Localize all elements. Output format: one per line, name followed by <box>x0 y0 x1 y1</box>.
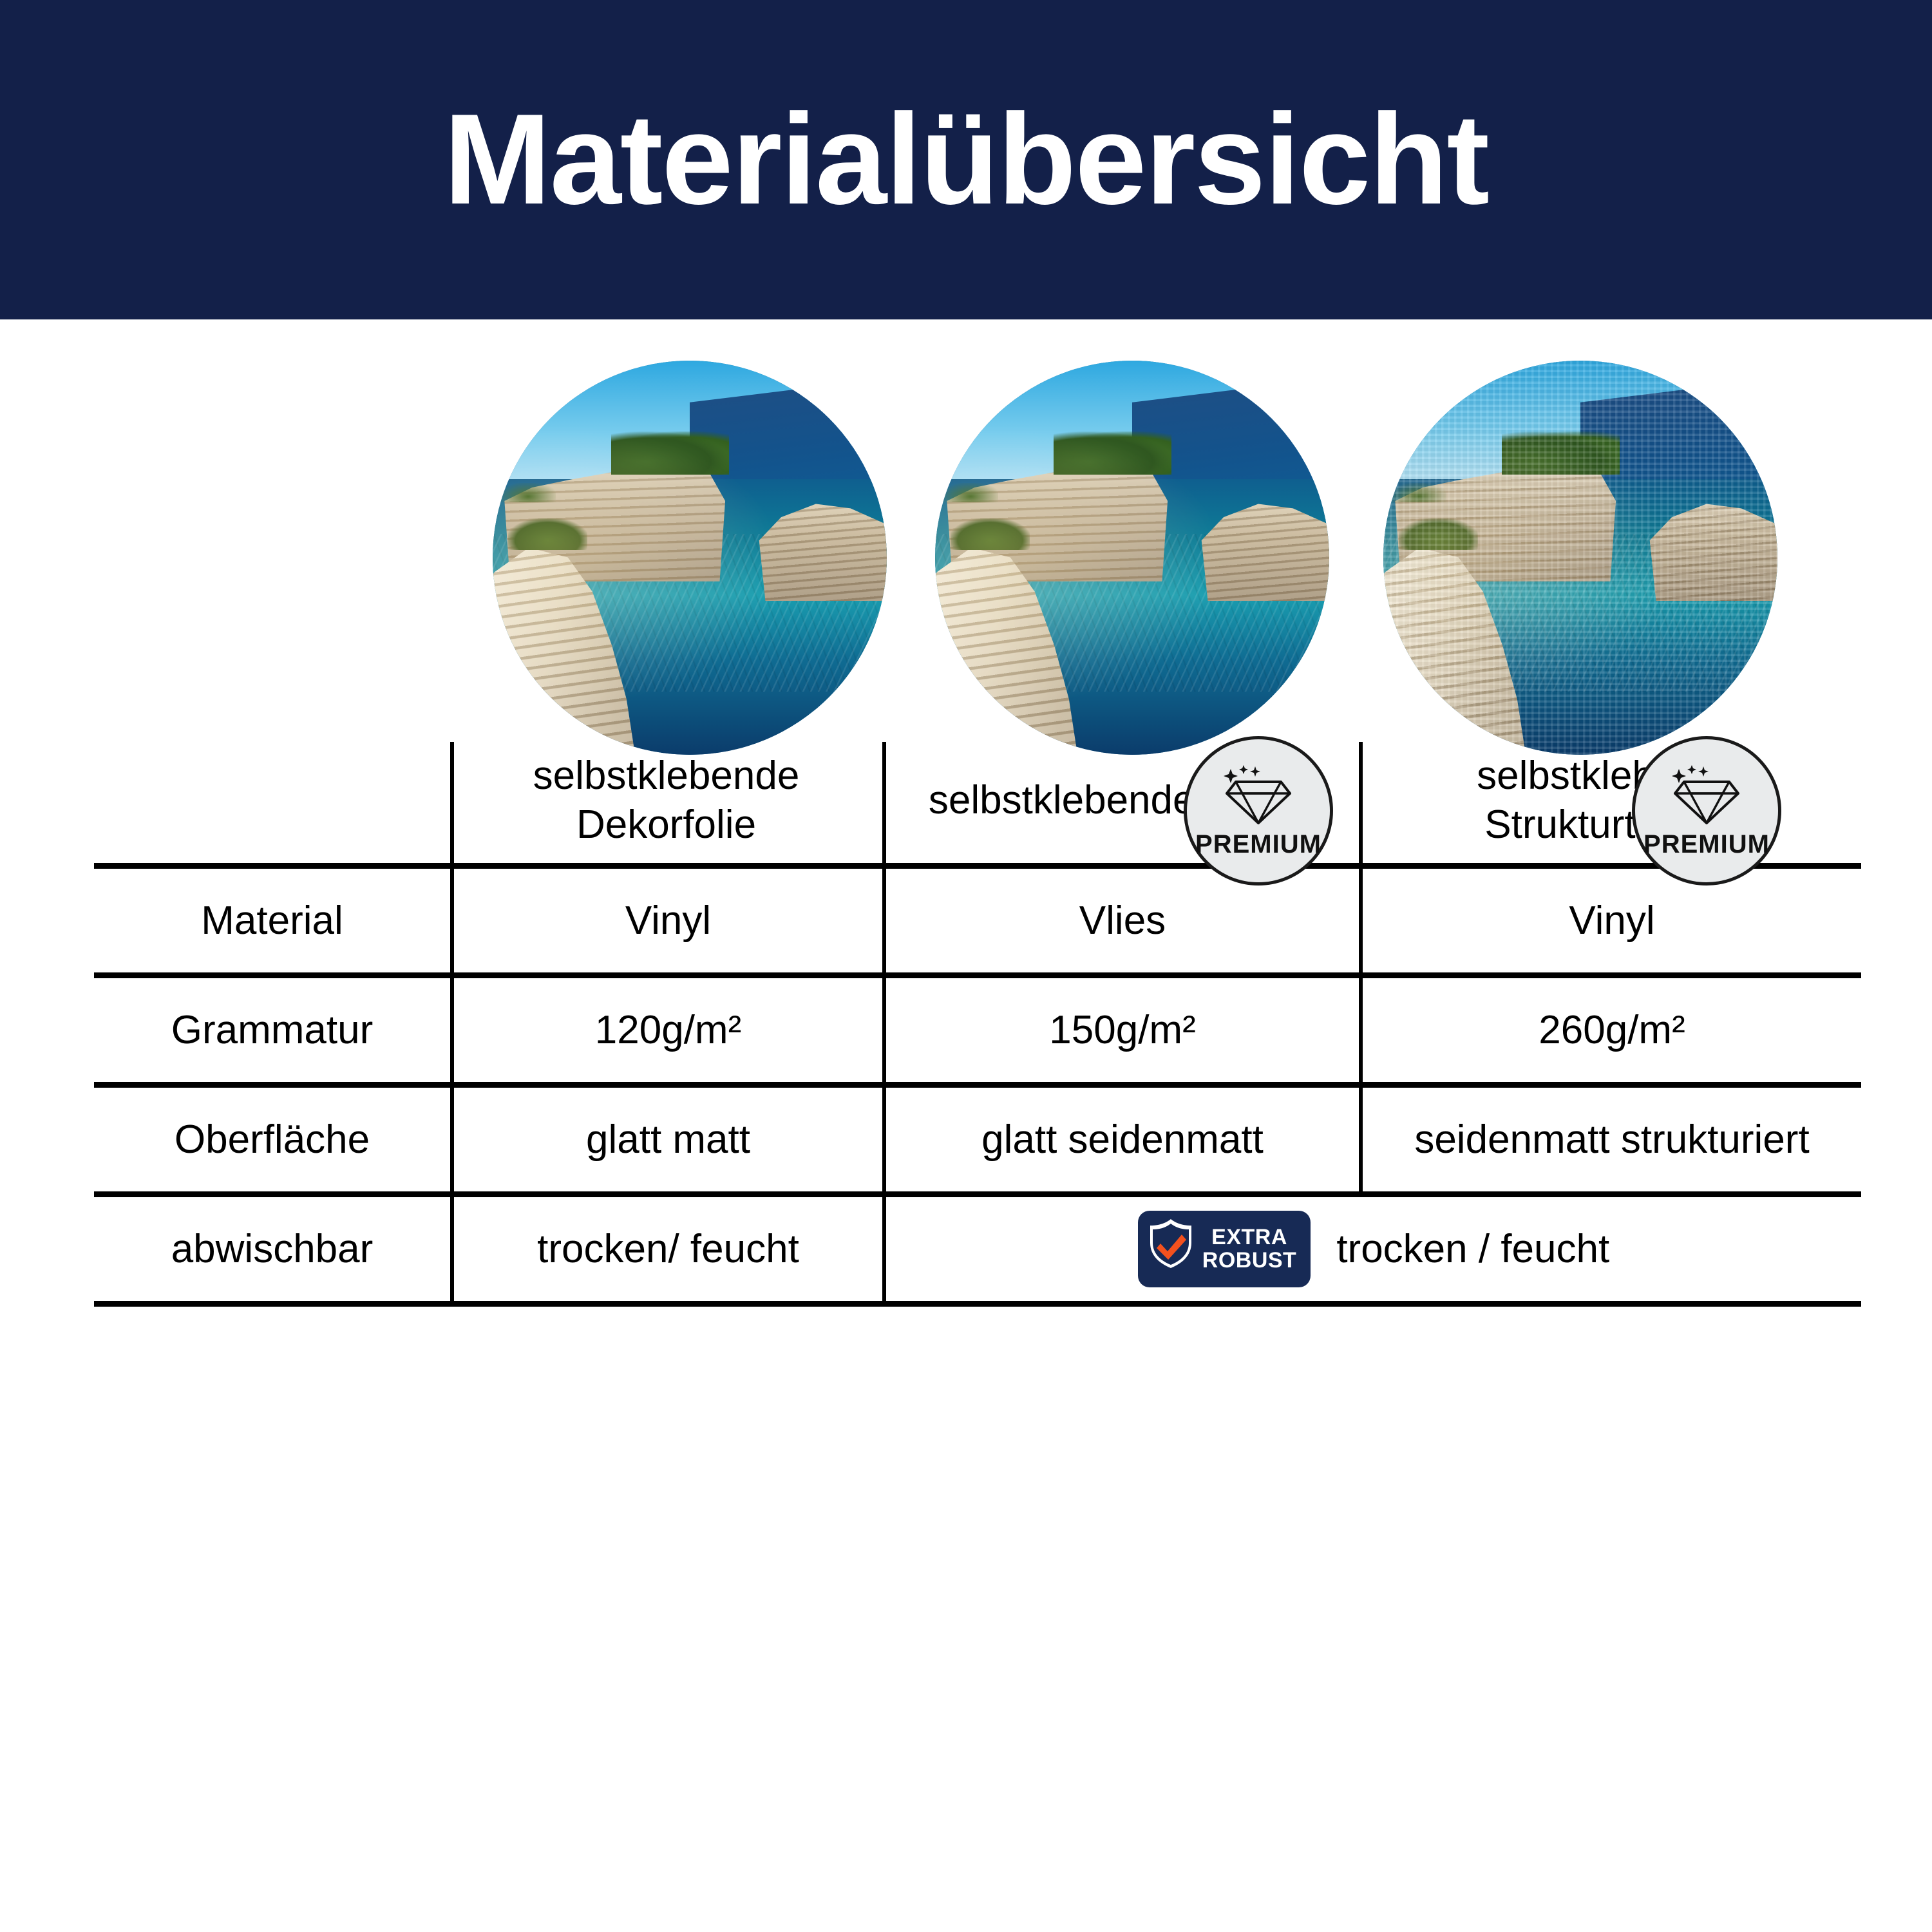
table-cell-oberflaeche-2: glatt seidenmatt <box>886 1088 1359 1191</box>
page-title: Materialübersicht <box>0 0 1932 319</box>
table-cell-material-2: Vlies <box>886 869 1359 972</box>
premium-badge-strukturtapete: PREMIUM <box>1632 736 1781 885</box>
preview-image-strukturtapete <box>1383 361 1777 755</box>
premium-badge-label: PREMIUM <box>1643 831 1770 857</box>
extra-robust-badge: EXTRA ROBUST <box>1138 1211 1311 1288</box>
table-cell-abwischbar-merged: EXTRA ROBUST trocken / feucht <box>886 1197 1861 1301</box>
table-rule-2 <box>94 1082 1861 1088</box>
premium-badge-vlies: PREMIUM <box>1184 736 1333 885</box>
extra-robust-line1: EXTRA <box>1202 1226 1297 1249</box>
table-rowlabel-material: Material <box>94 869 450 972</box>
table-cell-oberflaeche-3: seidenmatt strukturiert <box>1363 1088 1861 1191</box>
preview-strukturtapete[interactable] <box>1383 361 1777 755</box>
table-rule-1 <box>94 972 1861 978</box>
table-rowlabel-oberflaeche: Oberfläche <box>94 1088 450 1191</box>
table-cell-grammatur-2: 150g/m² <box>886 978 1359 1082</box>
extra-robust-text: EXTRA ROBUST <box>1202 1226 1297 1272</box>
sunlight-overlay <box>935 361 1329 755</box>
table-cell-material-3: Vinyl <box>1363 869 1861 972</box>
extra-robust-line2: ROBUST <box>1202 1249 1297 1273</box>
table-rule-3 <box>94 1191 1861 1197</box>
table-header-dekorfolie: selbstklebende Dekorfolie <box>450 741 882 860</box>
sunlight-overlay <box>1383 361 1777 755</box>
table-cell-grammatur-3: 260g/m² <box>1363 978 1861 1082</box>
table-cell-abwischbar-value: trocken / feucht <box>1336 1225 1609 1274</box>
product-preview-row: PREMIUM PREMIUM <box>0 361 1932 760</box>
table-rule-bottom <box>94 1301 1861 1307</box>
sunlight-overlay <box>493 361 887 755</box>
preview-dekorfolie[interactable] <box>493 361 887 755</box>
table-cell-abwischbar-1: trocken/ feucht <box>454 1197 882 1301</box>
table-cell-material-1: Vinyl <box>454 869 882 972</box>
table-rule-top <box>94 863 1861 869</box>
table-rowlabel-grammatur: Grammatur <box>94 978 450 1082</box>
preview-vlies[interactable] <box>935 361 1329 755</box>
table-rowlabel-abwischbar: abwischbar <box>94 1197 450 1301</box>
table-cell-grammatur-1: 120g/m² <box>454 978 882 1082</box>
table-header-strukturtapete: selbstklebende Strukturtapete <box>1359 741 1861 860</box>
preview-image-dekorfolie <box>493 361 887 755</box>
shield-check-icon <box>1147 1217 1195 1282</box>
diamond-icon <box>1220 765 1296 830</box>
diamond-icon <box>1669 765 1745 830</box>
preview-image-vlies <box>935 361 1329 755</box>
table-cell-oberflaeche-1: glatt matt <box>454 1088 882 1191</box>
premium-badge-label: PREMIUM <box>1195 831 1321 857</box>
material-overview-page: Materialübersicht <box>0 0 1932 1932</box>
